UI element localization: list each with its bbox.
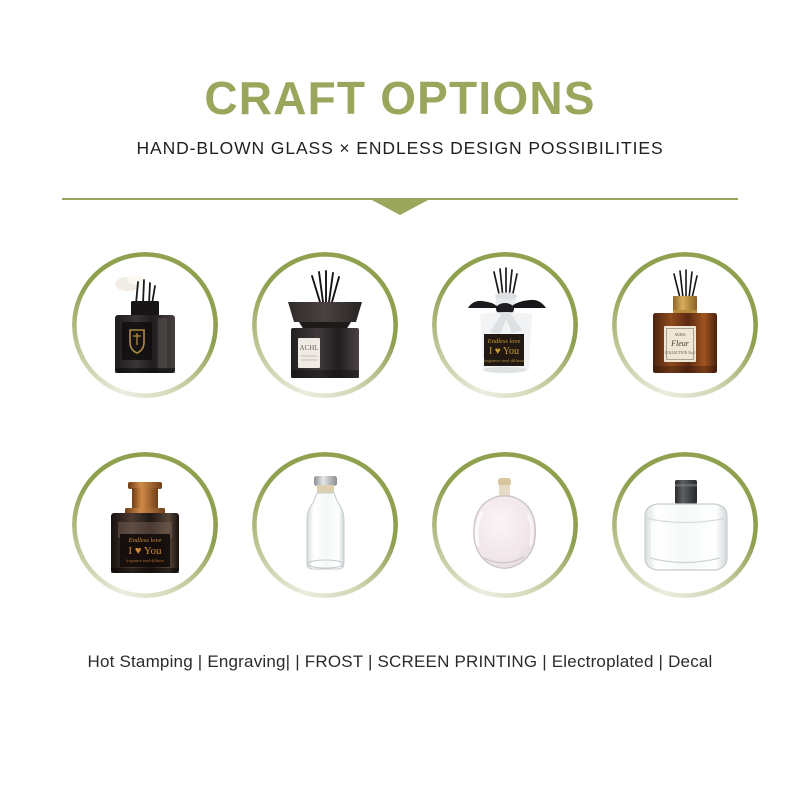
svg-text:Endless love: Endless love xyxy=(128,537,162,544)
bottle-black-crest-icon xyxy=(80,260,210,390)
chevron-down-icon xyxy=(370,199,430,215)
gallery-item-engraving[interactable]: ACHL xyxy=(252,252,398,398)
svg-text:fragrance reed diffuser: fragrance reed diffuser xyxy=(126,558,165,563)
svg-text:Endless love: Endless love xyxy=(487,338,521,345)
svg-text:I ♥ You: I ♥ You xyxy=(128,545,162,557)
bottle-wide-clear-black-cap-icon xyxy=(620,460,750,590)
svg-text:AURA: AURA xyxy=(674,332,685,337)
product-photo xyxy=(440,460,570,590)
svg-text:ACHL: ACHL xyxy=(299,344,318,352)
gallery-item-frost[interactable]: Endless love I ♥ You fragrance reed diff… xyxy=(432,252,578,398)
page-subtitle: HAND-BLOWN GLASS × ENDLESS DESIGN POSSIB… xyxy=(0,122,800,159)
bottle-clear-silver-cap-icon xyxy=(260,460,390,590)
gallery-item-frost-round[interactable] xyxy=(432,452,578,598)
product-photo xyxy=(620,460,750,590)
header: CRAFT OPTIONS HAND-BLOWN GLASS × ENDLESS… xyxy=(0,0,800,159)
bottle-round-flat-cork-icon xyxy=(440,460,570,590)
gallery-row-1: ACHL xyxy=(0,252,800,452)
product-gallery: ACHL xyxy=(0,252,800,652)
divider xyxy=(62,198,738,222)
gallery-row-2: Endless love I ♥ You fragrance reed diff… xyxy=(0,452,800,652)
bottle-clear-bow-icon: Endless love I ♥ You fragrance reed diff… xyxy=(440,260,570,390)
gallery-item-hot-stamping[interactable] xyxy=(72,252,218,398)
craft-options-poster: CRAFT OPTIONS HAND-BLOWN GLASS × ENDLESS… xyxy=(0,0,800,800)
gallery-item-decal[interactable] xyxy=(252,452,398,598)
product-photo: Endless love I ♥ You fragrance reed diff… xyxy=(80,460,210,590)
product-photo: AURA Fleur COLLECTION No.5 xyxy=(620,260,750,390)
svg-text:COLLECTION No.5: COLLECTION No.5 xyxy=(665,351,696,355)
bottle-copper-cap-love-icon: Endless love I ♥ You fragrance reed diff… xyxy=(80,460,210,590)
svg-text:fragrance reed diffuser: fragrance reed diffuser xyxy=(484,358,525,363)
bottle-wood-cap-icon: ACHL xyxy=(260,260,390,390)
svg-text:I ♥ You: I ♥ You xyxy=(489,346,519,357)
product-photo: ACHL xyxy=(260,260,390,390)
bottle-amber-gold-cap-icon: AURA Fleur COLLECTION No.5 xyxy=(620,260,750,390)
gallery-item-screen-printing[interactable]: AURA Fleur COLLECTION No.5 xyxy=(612,252,758,398)
product-photo xyxy=(260,460,390,590)
page-title: CRAFT OPTIONS xyxy=(0,0,800,122)
product-photo xyxy=(80,260,210,390)
svg-text:Fleur: Fleur xyxy=(670,339,690,348)
gallery-item-electroplated[interactable]: Endless love I ♥ You fragrance reed diff… xyxy=(72,452,218,598)
craft-options-caption: Hot Stamping | Engraving| | FROST | SCRE… xyxy=(0,652,800,672)
product-photo: Endless love I ♥ You fragrance reed diff… xyxy=(440,260,570,390)
gallery-item-decal-wide[interactable] xyxy=(612,452,758,598)
